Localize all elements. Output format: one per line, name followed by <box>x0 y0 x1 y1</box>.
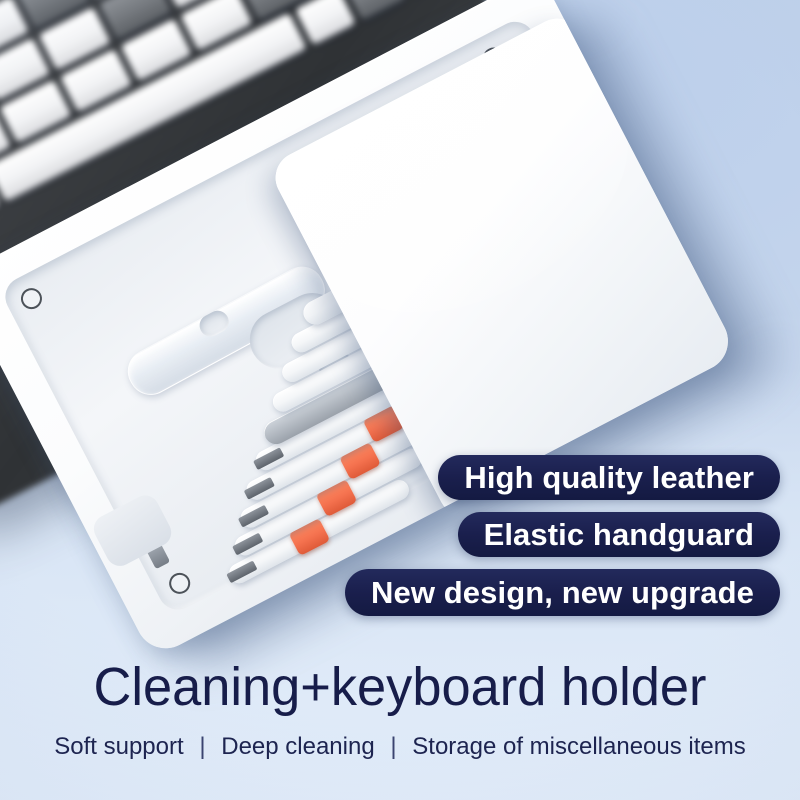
subtitle-separator: | <box>190 735 214 759</box>
product-marketing-image: High quality leather Elastic handguard N… <box>0 0 800 800</box>
subtitle-item-deep-cleaning: Deep cleaning <box>221 733 374 760</box>
subtitle-item-storage: Storage of miscellaneous items <box>412 733 746 760</box>
feature-badge-high-quality-leather[interactable]: High quality leather <box>438 455 780 500</box>
badge-row: New design, new upgrade <box>0 569 790 616</box>
feature-badge-list: High quality leather Elastic handguard N… <box>0 455 790 616</box>
subtitle-item-soft-support: Soft support <box>54 733 183 760</box>
badge-row: Elastic handguard <box>0 512 790 569</box>
feature-badge-new-design[interactable]: New design, new upgrade <box>345 569 780 616</box>
badge-row: High quality leather <box>0 455 790 512</box>
subtitle: Soft support | Deep cleaning | Storage o… <box>0 735 800 759</box>
subtitle-separator: | <box>381 735 405 759</box>
feature-badge-elastic-handguard[interactable]: Elastic handguard <box>458 512 780 557</box>
page-title: Cleaning+keyboard holder <box>12 660 788 714</box>
